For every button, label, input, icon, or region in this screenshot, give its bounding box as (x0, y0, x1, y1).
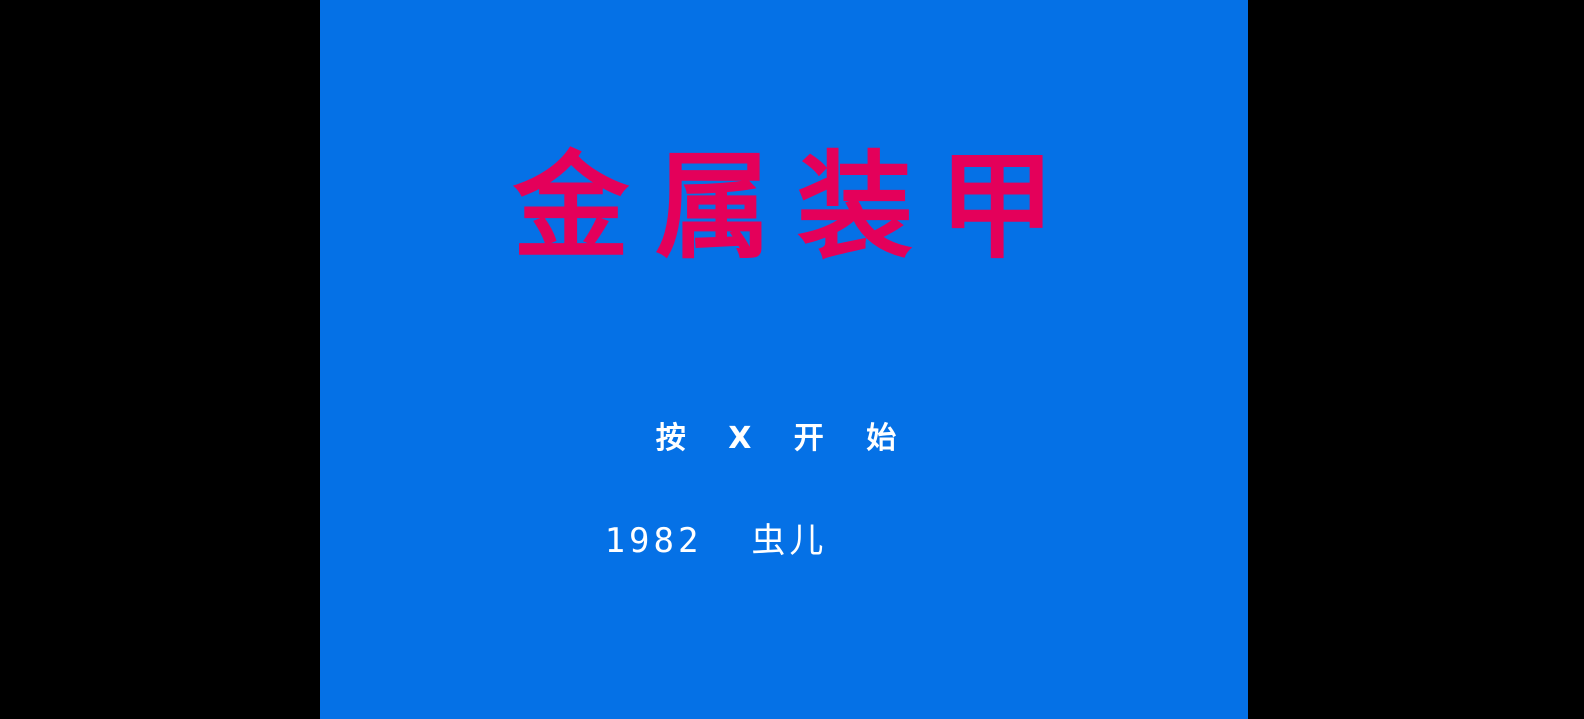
start-prompt-area: 按 X 开 始 (320, 424, 1248, 454)
game-screen: 金属装甲 按 X 开 始 1982 虫儿 (0, 0, 1584, 719)
letterbox-bar-left (0, 0, 320, 719)
game-canvas[interactable]: 金属装甲 按 X 开 始 1982 虫儿 (320, 0, 1248, 719)
credit-text: 1982 虫儿 (605, 524, 828, 558)
title-area: 金属装甲 (320, 150, 1248, 266)
start-prompt-text[interactable]: 按 X 开 始 (640, 424, 912, 454)
letterbox-bar-right (1248, 0, 1584, 719)
game-title: 金属装甲 (487, 150, 1081, 266)
credit-area: 1982 虫儿 (320, 524, 1248, 558)
